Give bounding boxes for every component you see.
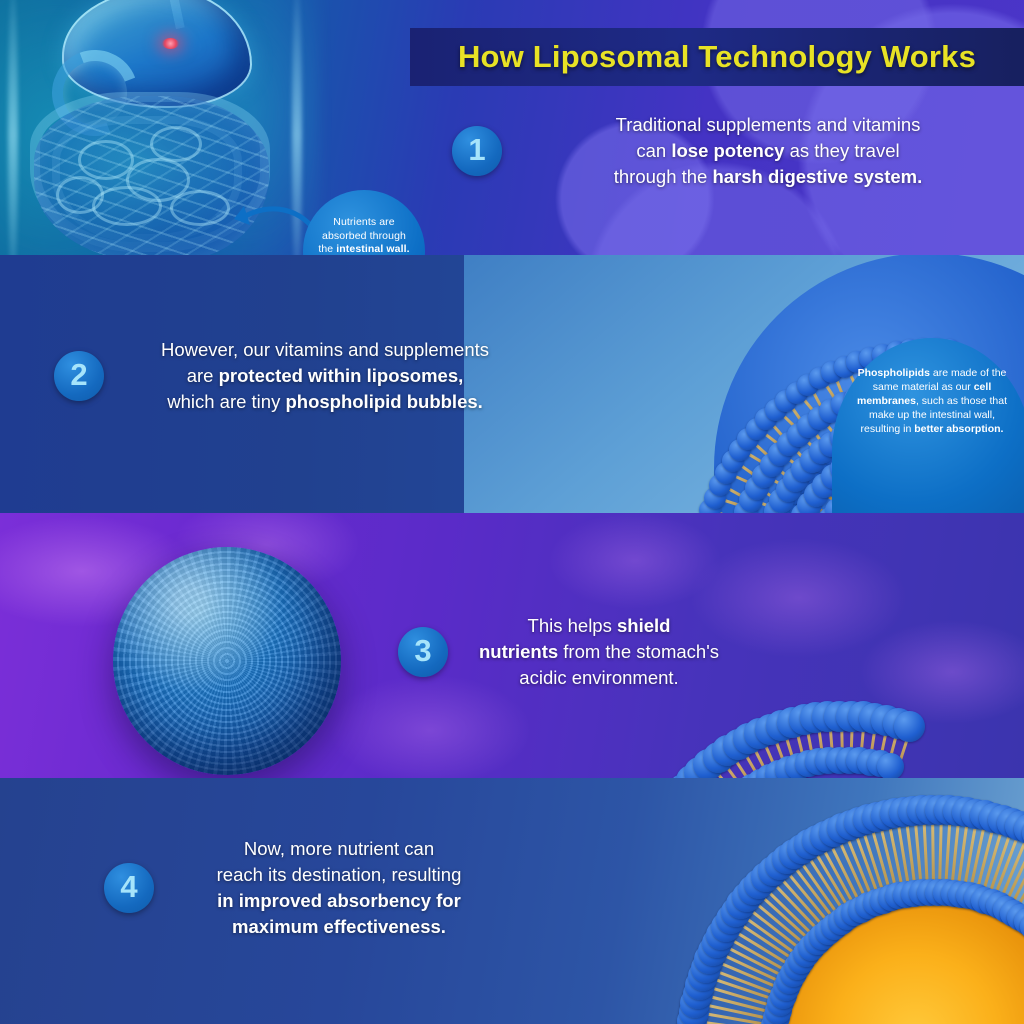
step-3-number-badge: 3 (398, 627, 448, 677)
text-line: through the harsh digestive system. (524, 164, 1012, 190)
intestine-loop (78, 140, 134, 180)
liposome-cutaway-illustration (554, 778, 1024, 1024)
liposome-sphere-icon (113, 547, 341, 775)
step-1-row: 1 Traditional supplements and vitamins c… (452, 112, 1012, 190)
step-4-number-badge: 4 (104, 863, 154, 913)
text-line: Traditional supplements and vitamins (524, 112, 1012, 138)
step-panel-4: 4 Now, more nutrient can reach its desti… (0, 778, 1024, 1024)
intestine-loop (56, 176, 104, 214)
callout-line: absorbed through (313, 230, 415, 244)
title-banner: How Liposomal Technology Works (410, 28, 1024, 86)
step-3-text: This helps shield nutrients from the sto… (470, 613, 728, 691)
callout-line: the intestinal wall. (313, 243, 415, 255)
text-line: This helps shield (470, 613, 728, 639)
callout-line: same material as our cell (848, 380, 1016, 394)
gastric-hotspot-icon (162, 38, 179, 49)
step-panel-2: Phospholipids are made of the same mater… (0, 255, 1024, 513)
text-line: in improved absorbency for (174, 888, 504, 914)
callout-line: membranes, such as those that (848, 394, 1016, 408)
step-4-text: Now, more nutrient can reach its destina… (174, 836, 504, 940)
text-line: can lose potency as they travel (524, 138, 1012, 164)
text-line: acidic environment. (470, 665, 728, 691)
callout-line: resulting in better absorption. (848, 422, 1016, 436)
step-4-row: 4 Now, more nutrient can reach its desti… (104, 836, 504, 940)
lipid-head-icon (877, 753, 904, 778)
step-panel-3: 3 This helps shield nutrients from the s… (0, 513, 1024, 778)
callout-line: Phospholipids are made of the (848, 366, 1016, 380)
step-2-number-badge: 2 (54, 351, 104, 401)
step-1-number-badge: 1 (452, 126, 502, 176)
step-3-row: 3 This helps shield nutrients from the s… (398, 613, 728, 691)
text-line: maximum effectiveness. (174, 914, 504, 940)
intestine-loop (150, 126, 202, 162)
text-line: However, our vitamins and supplements (126, 337, 524, 363)
step-2-text: However, our vitamins and supplements ar… (126, 337, 524, 415)
text-line: nutrients from the stomach's (470, 639, 728, 665)
page-title: How Liposomal Technology Works (458, 39, 976, 75)
text-line: Now, more nutrient can (174, 836, 504, 862)
callout-line: make up the intestinal wall, (848, 408, 1016, 422)
text-line: are protected within liposomes, (126, 363, 524, 389)
text-line: reach its destination, resulting (174, 862, 504, 888)
lipid-head-icon (894, 711, 925, 742)
step-1-text: Traditional supplements and vitamins can… (524, 112, 1012, 190)
step-2-row: 2 However, our vitamins and supplements … (54, 337, 524, 415)
intestine-loop (170, 190, 230, 226)
text-line: which are tiny phospholipid bubbles. (126, 389, 524, 415)
callout-line: Nutrients are (313, 216, 415, 230)
infographic-root: Nutrients are absorbed through the intes… (0, 0, 1024, 1024)
